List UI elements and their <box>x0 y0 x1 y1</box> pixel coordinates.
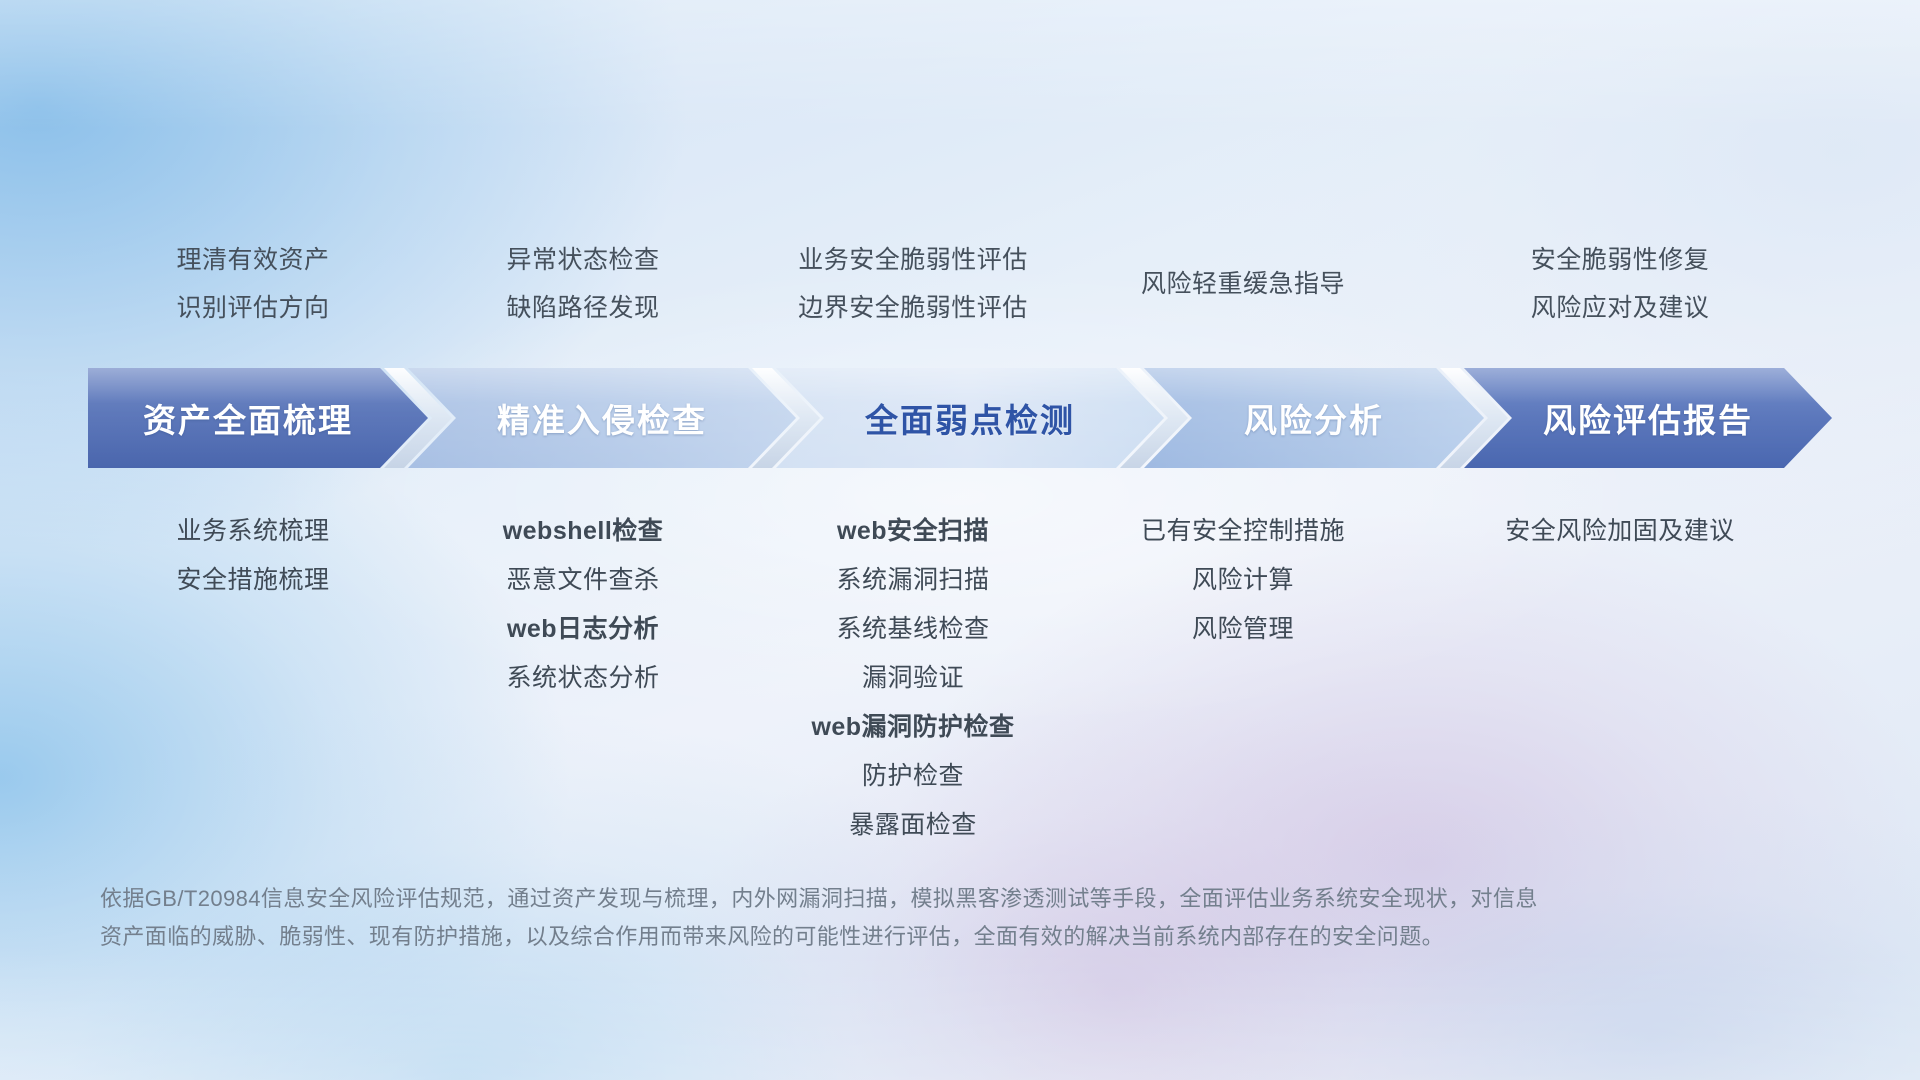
footer-line: 资产面临的威胁、脆弱性、现有防护措施，以及综合作用而带来风险的可能性进行评估，全… <box>100 918 1660 956</box>
footer-description: 依据GB/T20984信息安全风险评估规范，通过资产发现与梳理，内外网漏洞扫描，… <box>100 880 1660 956</box>
top-notes-weakness-detection: 业务安全脆弱性评估 边界安全脆弱性评估 <box>748 236 1078 332</box>
top-note: 风险应对及建议 <box>1408 284 1832 332</box>
list-item: 漏洞验证 <box>748 654 1078 703</box>
list-item: webshell检查 <box>418 507 748 556</box>
ribbon-segment-4-sheen <box>1144 368 1484 468</box>
list-item: 安全措施梳理 <box>88 556 418 605</box>
list-item: 风险计算 <box>1078 556 1408 605</box>
footer-line: 依据GB/T20984信息安全风险评估规范，通过资产发现与梳理，内外网漏洞扫描，… <box>100 880 1660 918</box>
top-note: 识别评估方向 <box>88 284 418 332</box>
ribbon-segment-5-sheen <box>1464 368 1832 468</box>
top-note: 理清有效资产 <box>88 236 418 284</box>
list-item: web日志分析 <box>418 605 748 654</box>
list-item: 风险管理 <box>1078 605 1408 654</box>
top-note: 边界安全脆弱性评估 <box>748 284 1078 332</box>
list-item: 安全风险加固及建议 <box>1408 507 1832 556</box>
top-notes-risk-report: 安全脆弱性修复 风险应对及建议 <box>1408 236 1832 332</box>
top-note: 异常状态检查 <box>418 236 748 284</box>
item-list-risk-analysis: 已有安全控制措施 风险计算 风险管理 <box>1078 507 1408 654</box>
ribbon-segment-1-sheen <box>88 368 428 468</box>
top-notes-asset-inventory: 理清有效资产 识别评估方向 <box>88 236 418 332</box>
top-note: 业务安全脆弱性评估 <box>748 236 1078 284</box>
list-item: 系统基线检查 <box>748 605 1078 654</box>
list-item: 防护检查 <box>748 752 1078 801</box>
item-list-risk-report: 安全风险加固及建议 <box>1408 507 1832 556</box>
top-note: 缺陷路径发现 <box>418 284 748 332</box>
item-list-intrusion-check: webshell检查 恶意文件查杀 web日志分析 系统状态分析 <box>418 507 748 703</box>
top-notes-intrusion-check: 异常状态检查 缺陷路径发现 <box>418 236 748 332</box>
list-item: 已有安全控制措施 <box>1078 507 1408 556</box>
ribbon-segment-2-sheen <box>408 368 796 468</box>
top-note: 安全脆弱性修复 <box>1408 236 1832 284</box>
list-item: 系统状态分析 <box>418 654 748 703</box>
diagram-stage: 理清有效资产 识别评估方向 业务系统梳理 安全措施梳理 异常状态检查 缺陷路径发… <box>0 0 1920 1080</box>
item-list-asset-inventory: 业务系统梳理 安全措施梳理 <box>88 507 418 605</box>
slide-canvas: 理清有效资产 识别评估方向 业务系统梳理 安全措施梳理 异常状态检查 缺陷路径发… <box>0 0 1920 1080</box>
list-item: 暴露面检查 <box>748 801 1078 850</box>
top-notes-risk-analysis: 风险轻重缓急指导 <box>1078 260 1408 308</box>
top-note: 风险轻重缓急指导 <box>1078 260 1408 308</box>
list-item: 业务系统梳理 <box>88 507 418 556</box>
list-item: 恶意文件查杀 <box>418 556 748 605</box>
process-ribbon: 资产全面梳理 精准入侵检查 全面弱点检测 风险分析 风险评估报告 <box>88 368 1832 468</box>
item-list-weakness-detection: web安全扫描 系统漏洞扫描 系统基线检查 漏洞验证 web漏洞防护检查 防护检… <box>748 507 1078 850</box>
list-item: web漏洞防护检查 <box>748 703 1078 752</box>
list-item: 系统漏洞扫描 <box>748 556 1078 605</box>
ribbon-segment-3-sheen <box>776 368 1164 468</box>
list-item: web安全扫描 <box>748 507 1078 556</box>
